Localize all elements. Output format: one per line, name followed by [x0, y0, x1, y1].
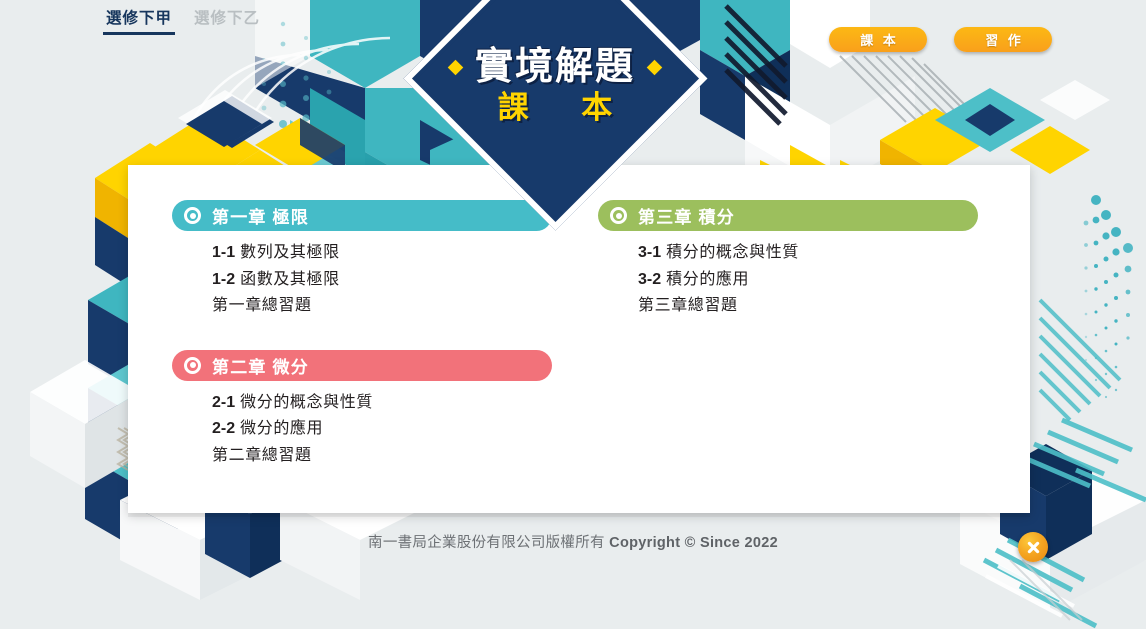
section-item[interactable]: 1-1數列及其極限 [212, 240, 552, 267]
book-type-buttons: 課 本 習 作 [829, 27, 1052, 52]
section-label: 第一章總習題 [212, 297, 312, 314]
chapter-block-3: 第三章 積分 3-1積分的概念與性質 3-2積分的應用 第三章總習題 [598, 200, 978, 320]
workbook-button[interactable]: 習 作 [954, 27, 1052, 52]
section-item[interactable]: 3-2積分的應用 [638, 267, 978, 294]
textbook-button[interactable]: 課 本 [829, 27, 927, 52]
chapter-sections-1: 1-1數列及其極限 1-2函數及其極限 第一章總習題 [172, 231, 552, 320]
section-label: 第二章總習題 [212, 447, 312, 464]
section-label: 微分的概念與性質 [240, 394, 373, 411]
chapter-list-card: 第一章 極限 1-1數列及其極限 1-2函數及其極限 第一章總習題 [128, 165, 1030, 513]
tab-elective-b-yi[interactable]: 選修下乙 [191, 8, 263, 35]
chapter-sections-3: 3-1積分的概念與性質 3-2積分的應用 第三章總習題 [598, 231, 978, 320]
section-number: 1-1 [212, 244, 235, 261]
section-label: 微分的應用 [240, 420, 323, 437]
chapter-header-1[interactable]: 第一章 極限 [172, 200, 552, 231]
close-x-icon [1026, 540, 1041, 555]
chapter-title-2: 第二章 微分 [212, 353, 309, 378]
section-label: 積分的概念與性質 [666, 244, 799, 261]
section-label: 積分的應用 [666, 271, 749, 288]
chapter-column-left: 第一章 極限 1-1數列及其極限 1-2函數及其極限 第一章總習題 [172, 200, 552, 513]
tab-elective-b-jia[interactable]: 選修下甲 [103, 8, 175, 35]
section-item[interactable]: 2-1微分的概念與性質 [212, 390, 552, 417]
close-button[interactable] [1018, 532, 1048, 562]
section-label: 函數及其極限 [240, 271, 340, 288]
chapter-block-2: 第二章 微分 2-1微分的概念與性質 2-2微分的應用 第二章總習題 [172, 350, 552, 470]
chapter-header-2[interactable]: 第二章 微分 [172, 350, 552, 381]
section-item[interactable]: 第三章總習題 [638, 293, 978, 320]
chapter-title-1: 第一章 極限 [212, 203, 309, 228]
elective-tabs: 選修下甲 選修下乙 [103, 8, 263, 35]
section-item[interactable]: 1-2函數及其極限 [212, 267, 552, 294]
section-number: 3-1 [638, 244, 661, 261]
chapter-sections-2: 2-1微分的概念與性質 2-2微分的應用 第二章總習題 [172, 381, 552, 470]
chapter-header-3[interactable]: 第三章 積分 [598, 200, 978, 231]
section-number: 3-2 [638, 271, 661, 288]
footer-text-en: Copyright © Since 2022 [609, 535, 778, 551]
target-circle-icon [184, 207, 201, 224]
footer-text-cn: 南一書局企業股份有限公司版權所有 [368, 535, 609, 551]
footer-copyright: 南一書局企業股份有限公司版權所有 Copyright © Since 2022 [0, 531, 1146, 552]
section-item[interactable]: 第二章總習題 [212, 443, 552, 470]
section-number: 2-1 [212, 394, 235, 411]
chapter-title-3: 第三章 積分 [638, 203, 735, 228]
section-item[interactable]: 第一章總習題 [212, 293, 552, 320]
section-item[interactable]: 3-1積分的概念與性質 [638, 240, 978, 267]
chapter-block-1: 第一章 極限 1-1數列及其極限 1-2函數及其極限 第一章總習題 [172, 200, 552, 320]
section-number: 2-2 [212, 420, 235, 437]
section-item[interactable]: 2-2微分的應用 [212, 416, 552, 443]
target-circle-icon [184, 357, 201, 374]
section-number: 1-2 [212, 271, 235, 288]
target-circle-icon [610, 207, 627, 224]
chapter-column-right: 第三章 積分 3-1積分的概念與性質 3-2積分的應用 第三章總習題 [598, 200, 978, 513]
app-root: 選修下甲 選修下乙 課 本 習 作 實境解題 課 本 第一章 極限 [0, 0, 1146, 629]
section-label: 數列及其極限 [240, 244, 340, 261]
section-label: 第三章總習題 [638, 297, 738, 314]
